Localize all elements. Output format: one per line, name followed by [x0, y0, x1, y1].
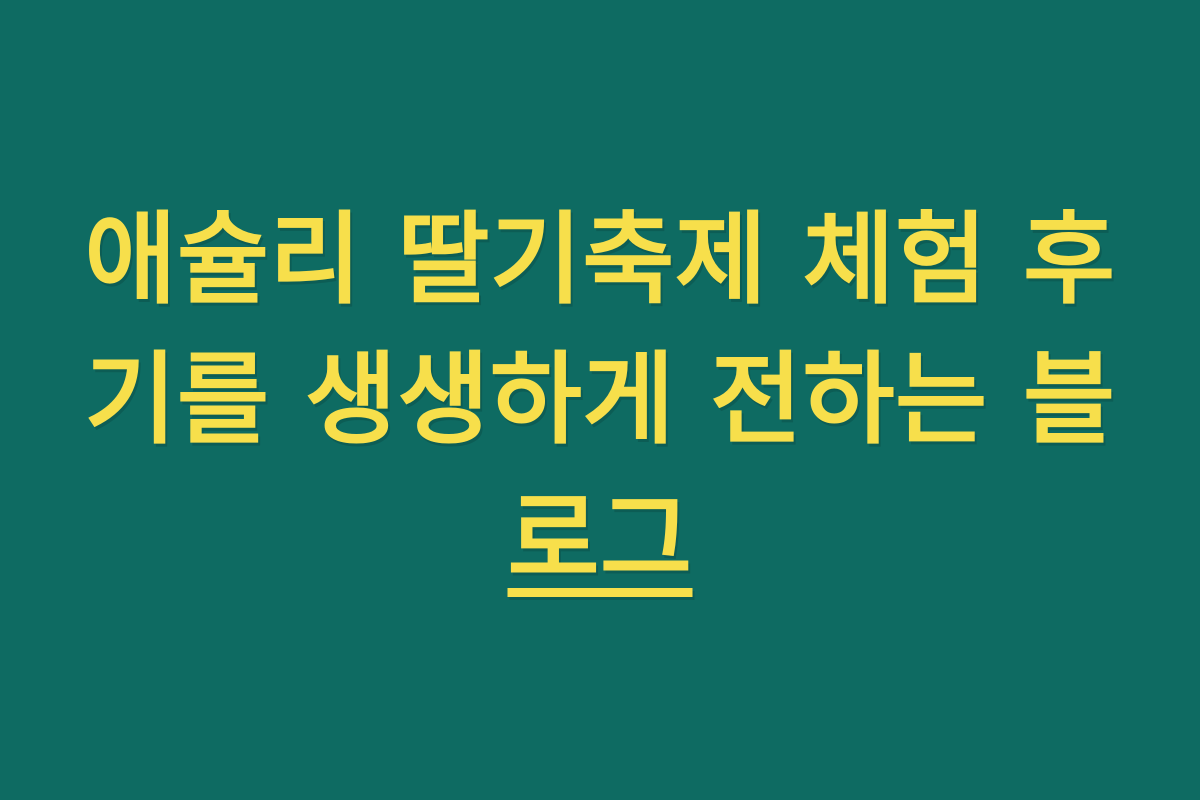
- title-line-1: 애슐리 딸기축제 체험 후: [80, 190, 1120, 330]
- page-title: 애슐리 딸기축제 체험 후 기를 생생하게 전하는 블 로그: [80, 190, 1120, 610]
- banner-canvas: 애슐리 딸기축제 체험 후 기를 생생하게 전하는 블 로그: [0, 0, 1200, 800]
- title-line-3: 로그: [80, 470, 1120, 610]
- title-line-2: 기를 생생하게 전하는 블: [80, 330, 1120, 470]
